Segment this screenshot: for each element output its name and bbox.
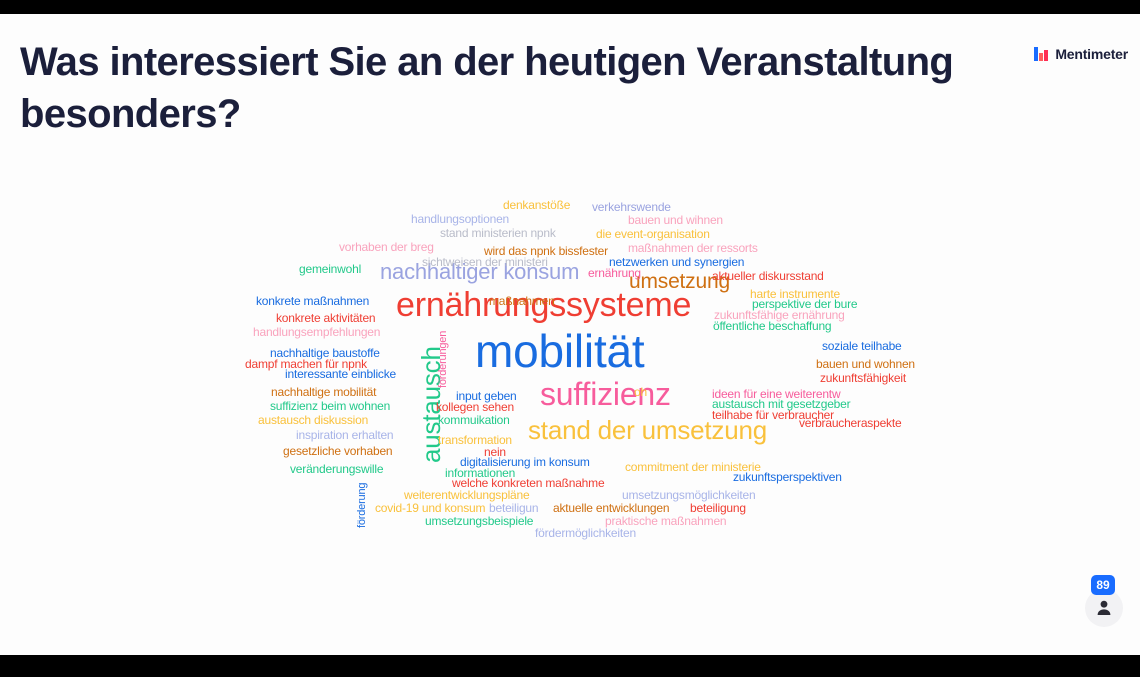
- cloud-word: maßnahmen: [489, 294, 555, 308]
- cloud-word: soziale teilhabe: [822, 339, 902, 353]
- cloud-word: kollegen sehen: [436, 400, 514, 414]
- cloud-word: weiterentwicklungspläne: [404, 488, 529, 502]
- cloud-word: beteiligun: [489, 501, 538, 515]
- participant-indicator: 89: [1080, 575, 1126, 639]
- cloud-word: aktuelle entwicklungen: [553, 501, 669, 515]
- cloud-word: verbraucheraspekte: [799, 416, 901, 430]
- cloud-word: zukunftsfähigkeit: [820, 371, 906, 385]
- cloud-word: förderungen: [437, 331, 449, 388]
- cloud-word: umsetzungsmöglichkeiten: [622, 488, 755, 502]
- cloud-word: konkrete maßnahmen: [256, 294, 369, 308]
- cloud-word: förderung: [356, 483, 368, 528]
- cloud-word: konkrete aktivitäten: [276, 311, 375, 325]
- cloud-word: beteiligung: [690, 501, 746, 515]
- cloud-word: maßnahmen der ressorts: [628, 241, 758, 255]
- cloud-word: umsetzungsbeispiele: [425, 514, 533, 528]
- cloud-word: inspiration erhalten: [296, 428, 393, 442]
- cloud-word: vorhaben der breg: [339, 240, 434, 254]
- letterbox-top-bar: [0, 0, 1140, 14]
- cloud-word: handlungsempfehlungen: [253, 325, 380, 339]
- participant-count-badge: 89: [1091, 575, 1115, 595]
- cloud-word: stand ministerien npnk: [440, 226, 556, 240]
- cloud-word: ernährung: [588, 266, 641, 280]
- cloud-word: öffentliche beschaffung: [713, 319, 831, 333]
- cloud-word: covid-19 und konsum: [375, 501, 485, 515]
- cloud-word: oh: [634, 385, 647, 399]
- presentation-screen: Was interessiert Sie an der heutigen Ver…: [0, 0, 1140, 677]
- cloud-word: zukunftsperspektiven: [733, 470, 842, 484]
- cloud-word: kommuikation: [438, 413, 510, 427]
- cloud-word: bauen und wihnen: [628, 213, 723, 227]
- cloud-word: gemeinwohl: [299, 262, 361, 276]
- cloud-word: veränderungswille: [290, 462, 383, 476]
- cloud-word: suffizienz: [540, 376, 671, 413]
- cloud-word: fördermöglichkeiten: [535, 526, 636, 540]
- cloud-word: aktueller diskursstand: [712, 269, 824, 283]
- word-cloud: mobilitäternährungssystemesuffizienzstan…: [0, 14, 1140, 655]
- cloud-word: mobilität: [475, 324, 645, 378]
- cloud-word: austausch diskussion: [258, 413, 368, 427]
- cloud-word: handlungsoptionen: [411, 212, 509, 226]
- cloud-word: bauen und wohnen: [816, 357, 915, 371]
- letterbox-bottom-bar: [0, 659, 1140, 677]
- cloud-word: gesetzliche vorhaben: [283, 444, 392, 458]
- cloud-word: sichtweisen der ministeri: [422, 255, 548, 269]
- cloud-word: interessante einblicke: [285, 367, 396, 381]
- cloud-word: die event-organisation: [596, 227, 710, 241]
- cloud-word: denkanstöße: [503, 198, 570, 212]
- cloud-word: nachhaltige mobilität: [271, 385, 376, 399]
- cloud-word: suffizienz beim wohnen: [270, 399, 390, 413]
- cloud-word: verkehrswende: [592, 200, 671, 214]
- slide-canvas: Was interessiert Sie an der heutigen Ver…: [0, 14, 1140, 655]
